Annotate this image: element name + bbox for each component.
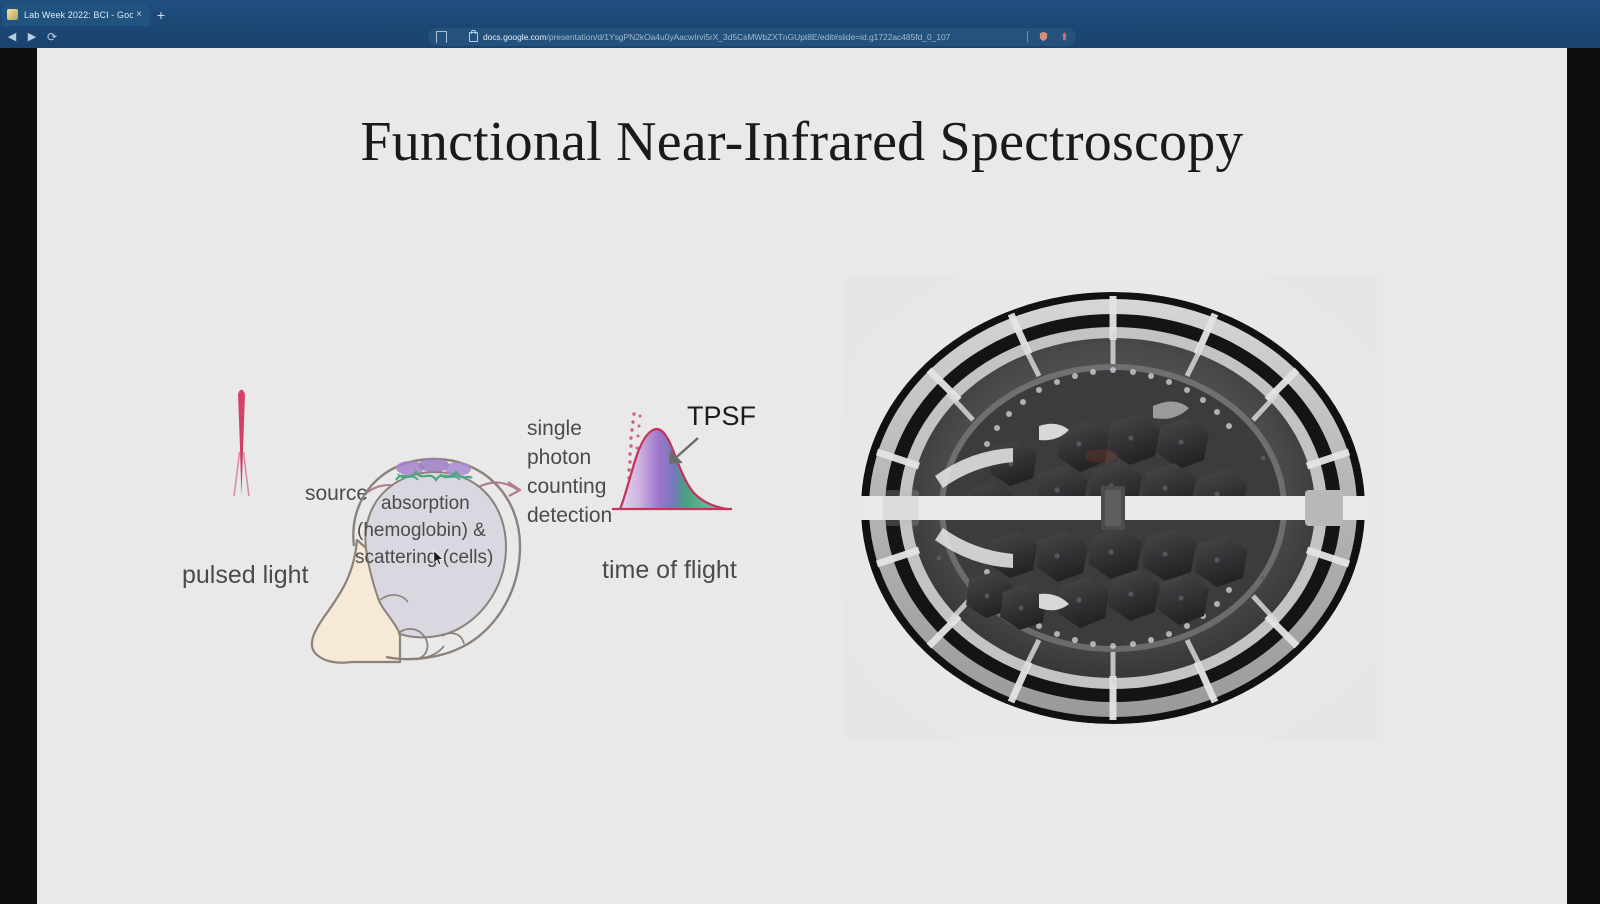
- browser-window: Lab Week 2022: BCI - Google S × + ◀ ▶ ⟳ …: [0, 0, 1600, 904]
- time-of-flight-label: time of flight: [602, 556, 737, 584]
- scattering-label: scattering (cells): [355, 547, 493, 568]
- fnirs-principle-illustration: pulsed light source: [142, 378, 862, 678]
- navigation-bar: ◀ ▶ ⟳ docs.google.com/presentation/d/1Ys…: [0, 26, 1600, 48]
- fnirs-headset-top-view-photo: [843, 278, 1383, 738]
- omnibox-actions: [1027, 31, 1070, 42]
- browser-chrome: Lab Week 2022: BCI - Google S × + ◀ ▶ ⟳ …: [0, 0, 1600, 48]
- site-information-lock-icon[interactable]: [469, 32, 478, 42]
- pulsed-light-spike: [234, 390, 249, 496]
- close-icon[interactable]: ×: [133, 9, 145, 21]
- google-slides-favicon: [7, 9, 18, 20]
- mouse-cursor-icon: [433, 550, 444, 566]
- page-title: Functional Near-Infrared Spectroscopy: [37, 110, 1567, 174]
- pulsed-light-label: pulsed light: [182, 561, 309, 589]
- url-path: /presentation/d/1YsgPN2kOa4u0yAacwIrvi5r…: [547, 32, 951, 42]
- shield-icon[interactable]: [1038, 31, 1049, 42]
- detection-label-line2: photon: [527, 446, 591, 469]
- slide-canvas[interactable]: Functional Near-Infrared Spectroscopy: [37, 48, 1567, 904]
- hemoglobin-label: (hemoglobin) &: [357, 520, 486, 541]
- extension-puzzle-icon[interactable]: [1059, 31, 1070, 42]
- optode-patch-icon: [396, 458, 472, 480]
- presentation-stage: Functional Near-Infrared Spectroscopy: [0, 48, 1600, 904]
- reload-icon[interactable]: ⟳: [44, 29, 60, 45]
- tab-title: Lab Week 2022: BCI - Google S: [24, 10, 133, 20]
- back-icon[interactable]: ◀: [4, 29, 20, 45]
- browser-tab[interactable]: Lab Week 2022: BCI - Google S ×: [2, 3, 150, 26]
- tpsf-label: TPSF: [687, 401, 756, 431]
- detection-label-line3: counting: [527, 475, 606, 498]
- absorption-label: absorption: [381, 493, 470, 514]
- source-label: source: [305, 482, 368, 505]
- url-text: docs.google.com/presentation/d/1YsgPN2kO…: [483, 32, 950, 42]
- detection-label-line4: detection: [527, 504, 612, 527]
- headset-side-clasp-right: [1305, 490, 1343, 526]
- address-bar[interactable]: docs.google.com/presentation/d/1YsgPN2kO…: [428, 28, 1076, 46]
- headset-side-clasp-left: [883, 490, 919, 526]
- bookmark-icon[interactable]: [436, 31, 447, 43]
- tab-strip: Lab Week 2022: BCI - Google S × +: [0, 0, 1600, 26]
- divider: [1027, 31, 1028, 42]
- detection-label-line1: single: [527, 417, 582, 440]
- forward-icon[interactable]: ▶: [24, 29, 40, 45]
- url-domain: docs.google.com: [483, 32, 547, 42]
- new-tab-button[interactable]: +: [152, 6, 170, 24]
